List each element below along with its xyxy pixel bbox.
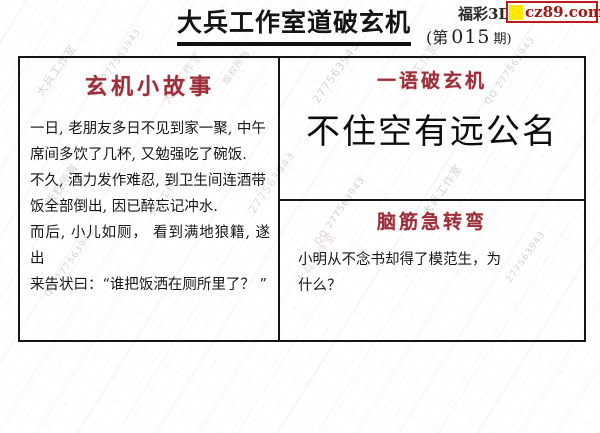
hint-phrase: 不住空有远公名 — [286, 110, 578, 154]
issue-number: 015 — [451, 26, 490, 48]
riddle-panel-heading: 脑筋急转弯 — [290, 209, 574, 235]
hint-panel-heading: 一语破玄机 — [286, 68, 578, 94]
riddle-line: 小明从不念书却得了模范生，为 — [298, 247, 574, 273]
riddle-line: 什么？ — [298, 273, 574, 299]
logo-text: cz89.com — [525, 5, 600, 20]
story-line: 不久, 酒力发作难忍, 到卫生间连酒带 — [30, 168, 270, 194]
issue-suffix: 期) — [494, 32, 512, 47]
riddle-body: 小明从不念书却得了模范生，为 什么？ — [290, 247, 574, 299]
riddle-panel: 脑筋急转弯 小明从不念书却得了模范生，为 什么？ — [280, 201, 584, 340]
content-frame: 玄机小故事 一日, 老朋友多日不见到家一聚, 中午 席间多饮了几杯, 又勉强吃了… — [18, 56, 586, 342]
logo-square-icon — [509, 5, 523, 20]
issue-number-line: (第015期) — [426, 24, 512, 48]
story-line: 而后, 小儿如厕， 看到满地狼籍, 遂出 — [30, 220, 270, 272]
page-title: 大兵工作室道破玄机 — [168, 8, 420, 38]
lottery-label: 福彩3D — [458, 3, 511, 24]
story-line: 一日, 老朋友多日不见到家一聚, 中午 — [30, 116, 270, 142]
story-panel-heading: 玄机小故事 — [30, 72, 270, 102]
story-line: 席间多饮了几杯, 又勉强吃了碗饭. — [30, 142, 270, 168]
story-line: 来告状曰：“谁把饭洒在厕所里了？ ” — [30, 272, 270, 298]
story-panel: 玄机小故事 一日, 老朋友多日不见到家一聚, 中午 席间多饮了几杯, 又勉强吃了… — [20, 58, 278, 340]
site-logo[interactable]: cz89.com — [506, 1, 598, 23]
story-line: 饭全部倒出, 因已醉忘记冲水. — [30, 194, 270, 220]
title-underline — [177, 42, 411, 46]
story-body: 一日, 老朋友多日不见到家一聚, 中午 席间多饮了几杯, 又勉强吃了碗饭. 不久… — [30, 116, 270, 298]
hint-panel: 一语破玄机 不住空有远公名 — [280, 58, 584, 199]
issue-prefix: (第 — [426, 28, 448, 47]
page-header: 大兵工作室道破玄机 福彩3D (第015期) cz89.com — [0, 0, 600, 52]
